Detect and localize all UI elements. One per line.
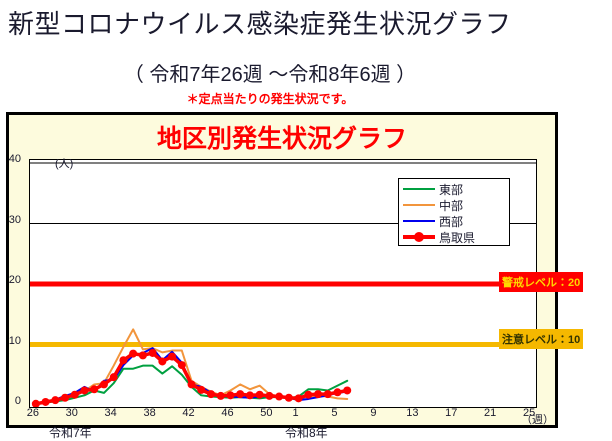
series-marker-鳥取県	[275, 393, 283, 401]
y-axis-unit-label: (人)	[55, 155, 73, 171]
legend-item-中部: 中部	[403, 197, 509, 213]
legend-item-東部: 東部	[403, 181, 509, 197]
legend-swatch-icon	[403, 230, 435, 244]
legend-item-西部: 西部	[403, 213, 509, 229]
series-marker-鳥取県	[71, 391, 79, 399]
chart-legend: 東部中部西部鳥取県	[398, 178, 510, 246]
x-tick-26: 26	[20, 407, 46, 419]
x-tick-25: 25	[516, 407, 542, 419]
series-marker-鳥取県	[324, 390, 332, 398]
series-marker-鳥取県	[80, 386, 88, 394]
alert-level-badge: 警戒レベル：20	[499, 272, 583, 292]
x-tick-42: 42	[176, 407, 202, 419]
x-tick-34: 34	[98, 407, 124, 419]
x-tick-17: 17	[438, 407, 464, 419]
series-marker-鳥取県	[285, 394, 293, 402]
chart-title: 地区別発生状況グラフ	[9, 119, 555, 155]
series-marker-鳥取県	[149, 349, 157, 357]
series-marker-鳥取県	[197, 386, 205, 394]
x-tick-13: 13	[399, 407, 425, 419]
footnote-text: ＊定点当たりの発生状況です。	[0, 90, 540, 107]
era-label-2: 令和8年	[285, 424, 328, 441]
x-tick-21: 21	[477, 407, 503, 419]
series-marker-鳥取県	[168, 353, 176, 361]
y-tick-10: 10	[0, 335, 21, 347]
legend-swatch-icon	[403, 198, 435, 212]
y-tick-40: 40	[0, 153, 21, 165]
series-marker-鳥取県	[61, 394, 69, 402]
series-marker-鳥取県	[236, 390, 244, 398]
series-marker-鳥取県	[158, 357, 166, 365]
caution-level-badge: 注意レベル：10	[499, 329, 583, 349]
x-tick-5: 5	[321, 407, 347, 419]
x-tick-50: 50	[253, 407, 279, 419]
legend-item-鳥取県: 鳥取県	[403, 229, 509, 245]
legend-swatch-icon	[403, 182, 435, 196]
series-marker-鳥取県	[51, 396, 59, 404]
series-marker-鳥取県	[304, 391, 312, 399]
series-marker-鳥取県	[333, 388, 341, 396]
x-tick-46: 46	[214, 407, 240, 419]
series-marker-鳥取県	[217, 392, 225, 400]
chart-panel: 地区別発生状況グラフ	[6, 112, 558, 428]
series-marker-鳥取県	[343, 386, 351, 394]
series-marker-鳥取県	[119, 356, 127, 364]
y-tick-20: 20	[0, 274, 21, 286]
legend-swatch-icon	[403, 214, 435, 228]
x-tick-38: 38	[137, 407, 163, 419]
series-marker-鳥取県	[314, 390, 322, 398]
legend-label: 西部	[439, 213, 463, 230]
series-marker-鳥取県	[110, 373, 118, 381]
page-title: 新型コロナウイルス感染症発生状況グラフ	[8, 4, 512, 41]
x-tick-9: 9	[360, 407, 386, 419]
legend-label: 中部	[439, 197, 463, 214]
series-marker-鳥取県	[265, 392, 273, 400]
series-marker-鳥取県	[42, 398, 50, 406]
y-tick-0: 0	[0, 395, 21, 407]
series-marker-鳥取県	[32, 400, 40, 407]
legend-label: 鳥取県	[439, 229, 475, 246]
era-label-1: 令和7年	[49, 424, 92, 441]
series-marker-鳥取県	[226, 391, 234, 399]
series-marker-鳥取県	[295, 394, 303, 402]
series-marker-鳥取県	[256, 391, 264, 399]
series-marker-鳥取県	[129, 350, 137, 358]
x-tick-1: 1	[283, 407, 309, 419]
x-tick-30: 30	[59, 407, 85, 419]
y-tick-30: 30	[0, 214, 21, 226]
series-marker-鳥取県	[139, 351, 147, 359]
series-marker-鳥取県	[100, 380, 108, 388]
series-marker-鳥取県	[178, 361, 186, 369]
legend-label: 東部	[439, 181, 463, 198]
page-subtitle: （ 令和7年26週 ～令和8年6週 ）	[0, 58, 540, 87]
series-marker-鳥取県	[90, 385, 98, 393]
series-marker-鳥取県	[207, 390, 215, 398]
series-marker-鳥取県	[246, 391, 254, 399]
series-marker-鳥取県	[188, 380, 196, 388]
